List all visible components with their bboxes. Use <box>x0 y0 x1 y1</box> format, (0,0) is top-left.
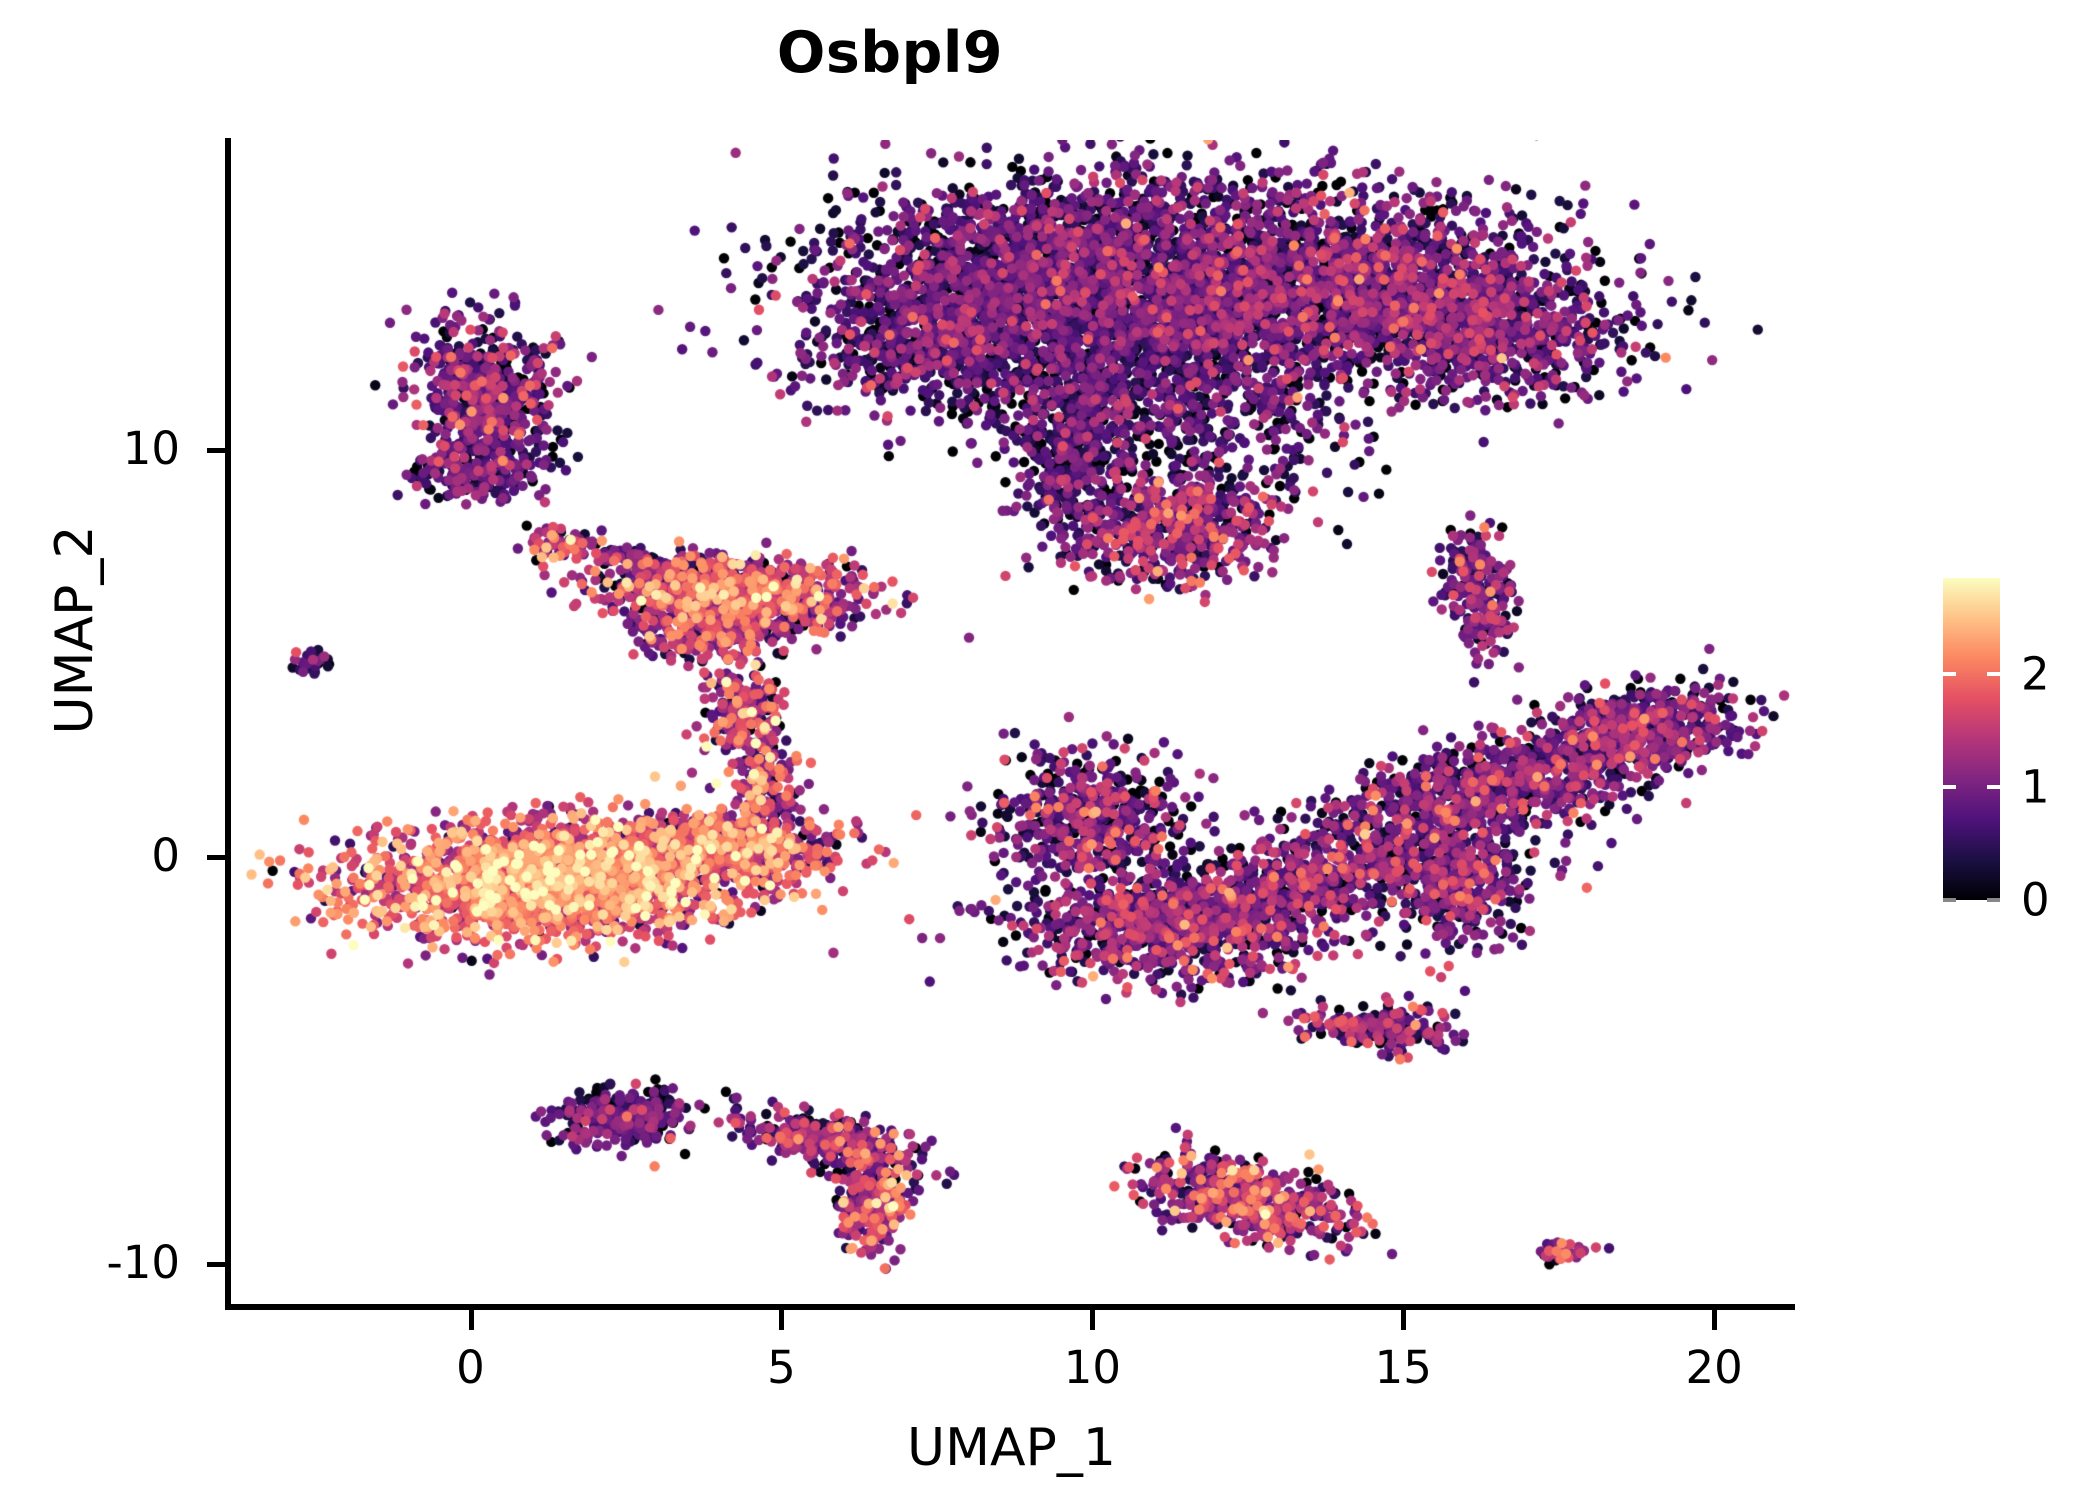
x-tick-mark <box>1712 1308 1717 1330</box>
scatter-plot-area <box>228 140 1795 1305</box>
page-title: Osbpl9 <box>0 22 1780 85</box>
y-tick-label: -10 <box>20 1240 180 1285</box>
x-tick-label: 15 <box>1303 1345 1503 1390</box>
x-tick-mark <box>779 1308 784 1330</box>
colorbar-gradient <box>1943 578 2000 900</box>
y-axis-label-wrapper: UMAP_2 <box>0 600 355 660</box>
colorbar-tick-label: 2 <box>2021 652 2050 697</box>
y-tick-mark <box>207 1262 229 1267</box>
y-axis-spine <box>225 138 231 1310</box>
colorbar-tick-mark <box>1987 898 2000 902</box>
x-tick-label: 5 <box>681 1345 881 1390</box>
x-axis-label: UMAP_1 <box>228 1418 1795 1478</box>
colorbar-tick-mark <box>1987 672 2000 676</box>
x-tick-label: 0 <box>371 1345 571 1390</box>
x-axis-spine <box>225 1304 1795 1310</box>
colorbar-tick-mark <box>1943 898 1956 902</box>
x-tick-mark <box>469 1308 474 1330</box>
colorbar-tick-mark <box>1943 785 1956 789</box>
scatter-canvas <box>228 140 1795 1305</box>
x-tick-label: 20 <box>1614 1345 1814 1390</box>
y-tick-mark <box>207 448 229 453</box>
y-tick-mark <box>207 855 229 860</box>
x-tick-mark <box>1401 1308 1406 1330</box>
y-axis-label: UMAP_2 <box>45 350 105 910</box>
colorbar-tick-label: 1 <box>2021 765 2050 810</box>
colorbar-tick-mark <box>1943 672 1956 676</box>
x-tick-mark <box>1090 1308 1095 1330</box>
colorbar-tick-label: 0 <box>2021 878 2050 923</box>
colorbar-tick-mark <box>1987 785 2000 789</box>
x-tick-label: 10 <box>992 1345 1192 1390</box>
figure-root: Osbpl9 100-1005101520 UMAP_1 UMAP_2 012 <box>0 0 2100 1500</box>
